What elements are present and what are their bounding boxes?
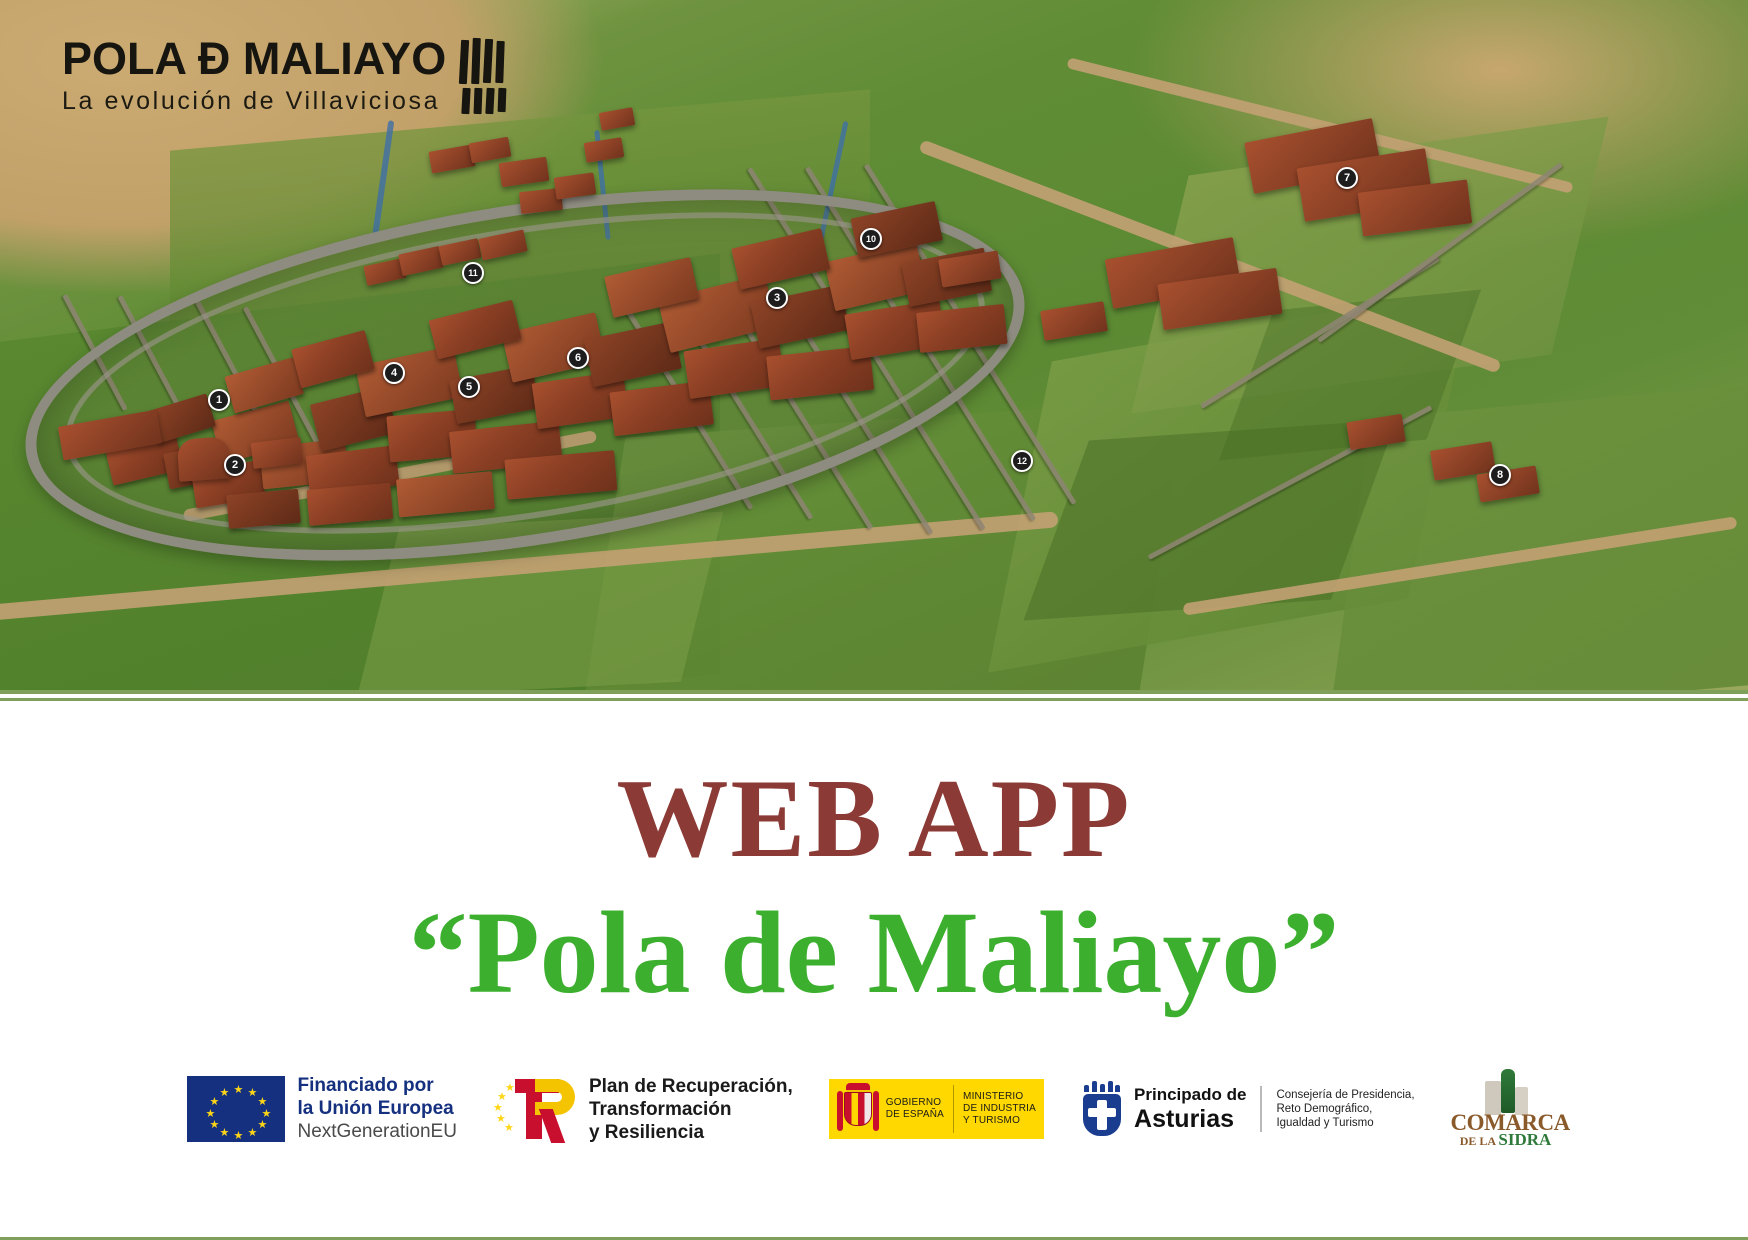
- page-title: WEB APP: [617, 763, 1132, 875]
- logo-comarca-de-la-sidra: COMARCA DE LA SIDRA: [1451, 1069, 1561, 1149]
- page-subtitle: “Pola de Maliayo”: [409, 889, 1340, 1017]
- consejeria-line-2: Reto Demográfico,: [1276, 1102, 1414, 1116]
- eu-line-1: Financiado por: [297, 1074, 456, 1097]
- prtr-line-1: Plan de Recuperación,: [589, 1075, 793, 1098]
- asturias-line-2: Asturias: [1134, 1105, 1246, 1133]
- eu-line-3: NextGenerationEU: [297, 1120, 456, 1144]
- four-bars-logo-mark-icon: [460, 38, 506, 114]
- logo-european-union: ★ ★ ★ ★ ★ ★ ★ ★ ★ ★ ★ ★ Financiado por l…: [187, 1074, 456, 1144]
- prtr-line-2: Transformación: [589, 1098, 793, 1121]
- map-marker-6[interactable]: 6: [567, 347, 589, 369]
- gobierno-divider: [953, 1085, 954, 1133]
- logo-plan-recuperacion: ★ ★ ★ ★ ★ Plan de Recuperación, Transfor…: [493, 1075, 793, 1144]
- prtr-line-3: y Resiliencia: [589, 1121, 793, 1144]
- asturias-crown-icon: [1084, 1080, 1120, 1092]
- sidra-line-2-prefix: DE LA: [1460, 1134, 1499, 1148]
- asturias-divider: [1260, 1086, 1262, 1132]
- brand-title: POLA Ð MALIAYO: [62, 34, 446, 84]
- map-marker-1[interactable]: 1: [208, 389, 230, 411]
- map-marker-10[interactable]: 10: [860, 228, 882, 250]
- sidra-emblem-icon: COMARCA DE LA SIDRA: [1451, 1069, 1561, 1149]
- map-marker-4[interactable]: 4: [383, 362, 405, 384]
- map-marker-5[interactable]: 5: [458, 376, 480, 398]
- map-marker-3[interactable]: 3: [766, 287, 788, 309]
- gobierno-line-2: DE ESPAÑA: [886, 1109, 944, 1121]
- sidra-line-2: DE LA SIDRA: [1451, 1131, 1561, 1150]
- sidra-line-2-main: SIDRA: [1498, 1130, 1551, 1149]
- prtr-text-block: Plan de Recuperación, Transformación y R…: [589, 1075, 793, 1144]
- spain-coat-of-arms-icon: [837, 1081, 879, 1137]
- hero-banner-3d-model: 1 2 3 4 5 6 7 8 10 11 12 POLA Ð MALIAYO …: [0, 0, 1748, 690]
- eu-text-block: Financiado por la Unión Europea NextGene…: [297, 1074, 456, 1144]
- poster-page: 1 2 3 4 5 6 7 8 10 11 12 POLA Ð MALIAYO …: [0, 0, 1748, 1240]
- ministerio-line-1: MINISTERIO: [963, 1091, 1036, 1103]
- prtr-emblem-icon: ★ ★ ★ ★ ★: [493, 1077, 579, 1141]
- ministerio-line-2: DE INDUSTRIA: [963, 1103, 1036, 1115]
- brand-logo: POLA Ð MALIAYO La evolución de Villavici…: [62, 34, 506, 116]
- consejeria-line-3: Igualdad y Turismo: [1276, 1116, 1414, 1130]
- cider-bottle-icon: [1501, 1069, 1515, 1113]
- brand-text-block: POLA Ð MALIAYO La evolución de Villavici…: [62, 34, 446, 116]
- map-marker-12[interactable]: 12: [1011, 450, 1033, 472]
- gobierno-line-1: GOBIERNO: [886, 1097, 944, 1109]
- chapel-building: [177, 436, 232, 482]
- ministerio-label: MINISTERIO DE INDUSTRIA Y TURISMO: [963, 1091, 1036, 1127]
- footer-logo-strip: ★ ★ ★ ★ ★ ★ ★ ★ ★ ★ ★ ★ Financiado por l…: [0, 1063, 1748, 1155]
- map-marker-2[interactable]: 2: [224, 454, 246, 476]
- map-marker-11[interactable]: 11: [462, 262, 484, 284]
- map-marker-7[interactable]: 7: [1336, 167, 1358, 189]
- logo-principado-de-asturias: Principado de Asturias Consejería de Pre…: [1080, 1080, 1415, 1138]
- consejeria-text-block: Consejería de Presidencia, Reto Demográf…: [1276, 1088, 1414, 1130]
- eu-line-2: la Unión Europea: [297, 1097, 456, 1120]
- asturias-cross-shield-icon: [1080, 1080, 1124, 1138]
- main-content: WEB APP “Pola de Maliayo” ★ ★ ★ ★ ★ ★ ★ …: [0, 701, 1748, 1181]
- gobierno-label: GOBIERNO DE ESPAÑA: [886, 1097, 944, 1121]
- asturias-text-block: Principado de Asturias: [1134, 1085, 1246, 1133]
- eu-flag-icon: ★ ★ ★ ★ ★ ★ ★ ★ ★ ★ ★ ★: [187, 1076, 285, 1142]
- logo-gobierno-de-espana: GOBIERNO DE ESPAÑA MINISTERIO DE INDUSTR…: [829, 1079, 1044, 1139]
- asturias-line-1: Principado de: [1134, 1085, 1246, 1105]
- consejeria-line-1: Consejería de Presidencia,: [1276, 1088, 1414, 1102]
- brand-subtitle: La evolución de Villaviciosa: [62, 86, 446, 116]
- map-marker-8[interactable]: 8: [1489, 464, 1511, 486]
- ministerio-line-3: Y TURISMO: [963, 1115, 1036, 1127]
